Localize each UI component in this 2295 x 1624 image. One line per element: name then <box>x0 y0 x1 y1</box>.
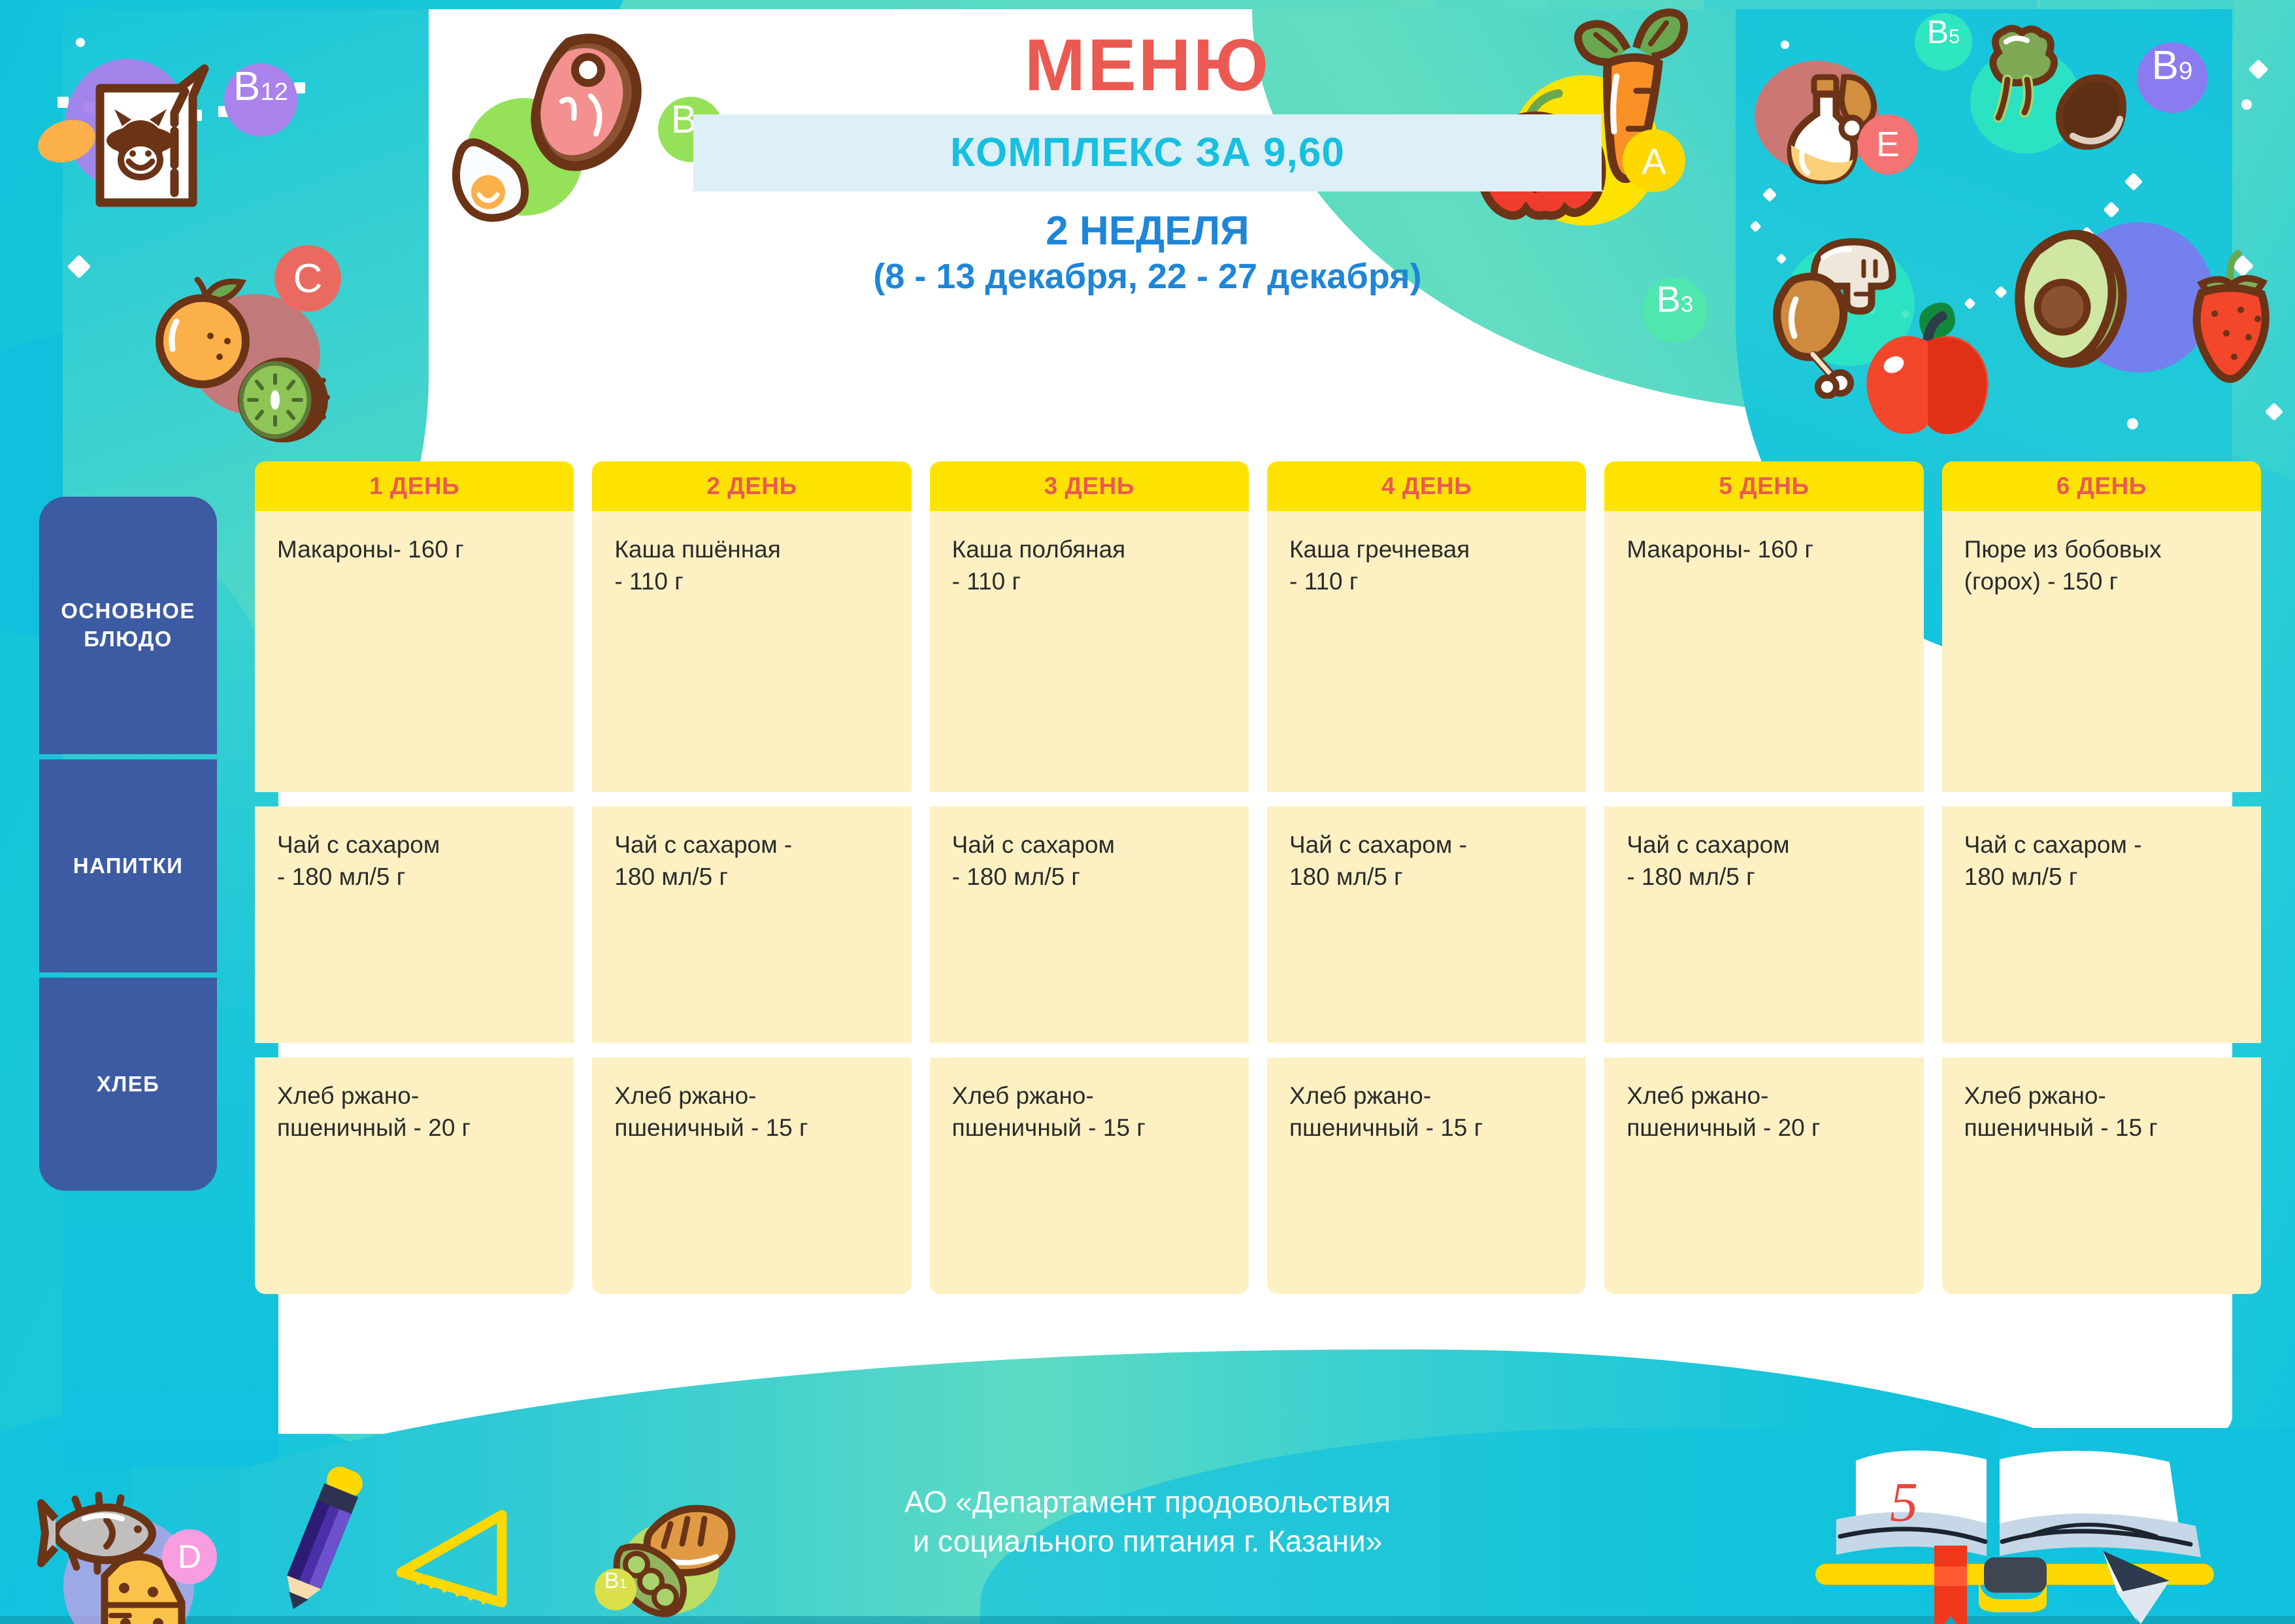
menu-poster: 5 B12 B2 C A B3 B5 E B9 D B1 МЕНЮ КОМПЛЕ… <box>0 0 2295 1624</box>
cell-bread-day5: Хлеб ржано-пшеничный - 20 г <box>1604 1057 1923 1294</box>
cell-drink-day1: Чай с сахаром- 180 мл/5 г <box>255 806 574 1043</box>
vitamin-subscript: 1 <box>619 1576 627 1592</box>
day-header-1: 1 ДЕНЬ <box>255 461 574 511</box>
cell-main-dish-day5: Макароны- 160 г <box>1604 511 1923 792</box>
cell-main-dish-day3: Каша полбяная- 110 г <box>930 511 1249 792</box>
apple-icon <box>1856 294 2000 448</box>
cell-drink-day6: Чай с сахаром -180 мл/5 г <box>1942 806 2261 1043</box>
cell-drink-day3: Чай с сахаром- 180 мл/5 г <box>930 806 1249 1043</box>
footer-line-1: АО «Департамент продовольствия <box>0 1482 2295 1522</box>
cell-bread-day1: Хлеб ржано-пшеничный - 20 г <box>255 1057 574 1294</box>
day-header-5: 5 ДЕНЬ <box>1604 461 1923 511</box>
menu-table: 1 ДЕНЬ 2 ДЕНЬ 3 ДЕНЬ 4 ДЕНЬ 5 ДЕНЬ 6 ДЕН… <box>255 461 2261 1294</box>
cell-main-dish-day1: Макароны- 160 г <box>255 511 574 792</box>
cell-main-dish-day2: Каша пшённая- 110 г <box>592 511 911 792</box>
footer-credit: АО «Департамент продовольствия и социаль… <box>0 1482 2295 1561</box>
table-row: Хлеб ржано-пшеничный - 20 г Хлеб ржано-п… <box>255 1057 2261 1294</box>
category-sidebar: ОСНОВНОЕ БЛЮДО НАПИТКИ ХЛЕБ <box>39 497 217 1191</box>
footer-line-2: и социального питания г. Казани» <box>0 1521 2295 1561</box>
cell-bread-day3: Хлеб ржано-пшеничный - 15 г <box>930 1057 1249 1294</box>
cell-drink-day2: Чай с сахаром -180 мл/5 г <box>592 806 911 1043</box>
cell-bread-day6: Хлеб ржано-пшеничный - 15 г <box>1942 1057 2261 1294</box>
cell-main-dish-day6: Пюре из бобовых(горох) - 150 г <box>1942 511 2261 792</box>
cell-drink-day4: Чай с сахаром -180 мл/5 г <box>1267 806 1586 1043</box>
week-dates: (8 - 13 декабря, 22 - 27 декабря) <box>0 256 2295 297</box>
cell-bread-day2: Хлеб ржано-пшеничный - 15 г <box>592 1057 911 1294</box>
week-label: 2 НЕДЕЛЯ <box>0 208 2295 254</box>
cell-bread-day4: Хлеб ржано-пшеничный - 15 г <box>1267 1057 1586 1294</box>
kiwi-icon <box>232 353 330 451</box>
vitamin-letter: B <box>604 1568 619 1594</box>
table-row: Чай с сахаром- 180 мл/5 г Чай с сахаром … <box>255 806 2261 1043</box>
day-header-3: 3 ДЕНЬ <box>930 461 1249 511</box>
table-row: Макароны- 160 г Каша пшённая- 110 г Каша… <box>255 511 2261 792</box>
cell-main-dish-day4: Каша гречневая- 110 г <box>1267 511 1586 792</box>
page-title: МЕНЮ <box>0 26 2295 105</box>
poster-header: МЕНЮ КОМПЛЕКС ЗА 9,60 2 НЕДЕЛЯ (8 - 13 д… <box>0 26 2295 297</box>
category-main-dish: ОСНОВНОЕ БЛЮДО <box>39 497 217 754</box>
complex-price-label: КОМПЛЕКС ЗА 9,60 <box>363 114 1932 191</box>
category-drinks: НАПИТКИ <box>39 759 217 972</box>
day-header-6: 6 ДЕНЬ <box>1942 461 2261 511</box>
table-header-row: 1 ДЕНЬ 2 ДЕНЬ 3 ДЕНЬ 4 ДЕНЬ 5 ДЕНЬ 6 ДЕН… <box>255 461 2261 511</box>
vitamin-badge-b1: B1 <box>595 1568 636 1610</box>
day-header-4: 4 ДЕНЬ <box>1267 461 1586 511</box>
cell-drink-day5: Чай с сахаром- 180 мл/5 г <box>1604 806 1923 1043</box>
complex-ribbon: КОМПЛЕКС ЗА 9,60 <box>363 114 1932 191</box>
day-header-2: 2 ДЕНЬ <box>592 461 911 511</box>
category-bread: ХЛЕБ <box>39 978 217 1191</box>
